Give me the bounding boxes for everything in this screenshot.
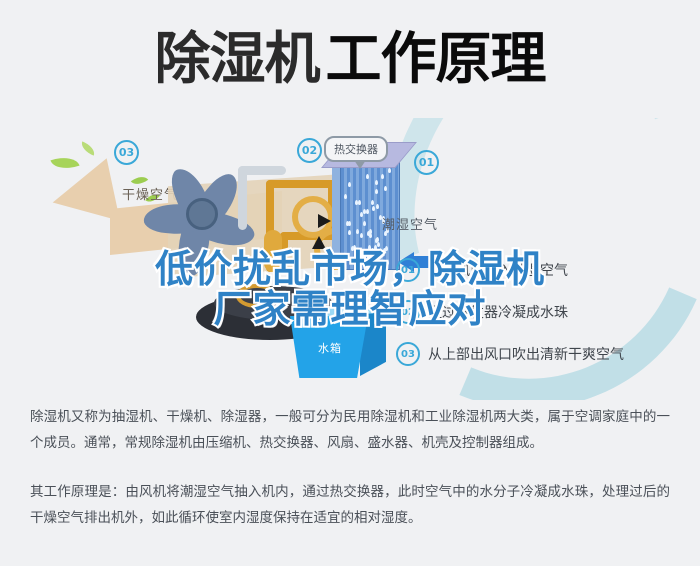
droplet-icon	[374, 245, 377, 250]
droplet-icon	[377, 242, 380, 247]
flow-arrow-up-icon	[312, 236, 326, 249]
droplet-icon	[388, 168, 391, 173]
droplet-icon	[346, 221, 349, 226]
droplet-icon	[348, 230, 351, 235]
badge-01: 01	[414, 150, 439, 175]
droplet-icon	[381, 174, 384, 179]
step-text: 经过蒸发器冷凝成水珠	[428, 302, 568, 322]
droplet-icon	[366, 174, 369, 179]
droplet-icon	[386, 260, 389, 265]
water-tank-label: 水箱	[318, 340, 342, 356]
page-title-part1: 除湿机	[155, 27, 320, 92]
page-header: 除湿机工作原理	[0, 24, 700, 96]
step-text: 从上部出风口吹出清新干爽空气	[428, 344, 624, 364]
process-step: 03 从上部出风口吹出清新干爽空气	[396, 342, 696, 366]
heat-exchanger-callout: 热交换器	[324, 136, 388, 162]
step-text: 由进风口吸入潮湿空气	[428, 260, 568, 280]
water-tank: 水箱	[284, 306, 388, 388]
base-gold-ring	[236, 284, 278, 308]
process-step: 01 由进风口吸入潮湿空气	[396, 258, 696, 282]
fan-icon	[150, 162, 268, 274]
droplet-icon	[372, 206, 375, 211]
compressor-cylinder	[264, 230, 282, 272]
droplet-icon	[366, 209, 369, 214]
droplet-icon	[375, 189, 378, 194]
droplet-icon	[367, 255, 370, 260]
badge-03: 03	[114, 140, 139, 165]
badge-02: 02	[297, 138, 322, 163]
body-paragraph-2: 其工作原理是：由风机将潮湿空气抽入机内，通过热交换器，此时空气中的水分子冷凝成水…	[0, 479, 700, 532]
gold-pipe	[266, 180, 336, 188]
droplet-icon	[384, 186, 387, 191]
dry-air-arrow-head	[46, 158, 120, 233]
fan-hub	[186, 198, 218, 230]
dehumidifier-diagram: 干燥空气	[0, 118, 700, 400]
step-badge: 02	[396, 300, 420, 324]
leaf-icon	[79, 141, 97, 155]
body-paragraph-1: 除湿机又称为抽湿机、干燥机、除湿器，一般可分为民用除湿机和工业除湿机两大类，属于…	[0, 404, 700, 457]
page-title: 除湿机工作原理	[155, 32, 546, 88]
droplet-icon	[374, 256, 377, 261]
page-title-part2: 工作原理	[326, 27, 546, 92]
droplet-icon	[371, 254, 374, 259]
droplet-icon	[358, 200, 361, 205]
droplet-icon	[363, 209, 366, 214]
droplet-icon	[369, 233, 372, 238]
step-badge: 01	[396, 258, 420, 282]
droplet-icon	[383, 248, 386, 253]
droplet-icon	[356, 229, 359, 234]
step-badge: 03	[396, 342, 420, 366]
process-steps-list: 01 由进风口吸入潮湿空气 02 经过蒸发器冷凝成水珠 03 从上部出风口吹出清…	[396, 258, 696, 384]
droplet-icon	[363, 221, 366, 226]
article-body: 除湿机又称为抽湿机、干燥机、除湿器，一般可分为民用除湿机和工业除湿机两大类，属于…	[0, 404, 700, 531]
refrigerant-pipe	[238, 166, 247, 230]
droplet-icon	[367, 249, 370, 254]
droplet-icon	[348, 182, 351, 187]
droplet-icon	[375, 180, 378, 185]
page-root: 除湿机工作原理 干燥空气	[0, 0, 700, 566]
process-step: 02 经过蒸发器冷凝成水珠	[396, 300, 696, 324]
flow-arrow-right-icon	[318, 214, 331, 228]
droplet-icon	[344, 194, 347, 199]
droplet-icon	[360, 233, 363, 238]
droplet-icon	[353, 245, 356, 250]
droplet-icon	[371, 200, 374, 205]
humid-air-label: 潮湿空气	[382, 214, 438, 233]
droplet-icon	[376, 204, 379, 209]
